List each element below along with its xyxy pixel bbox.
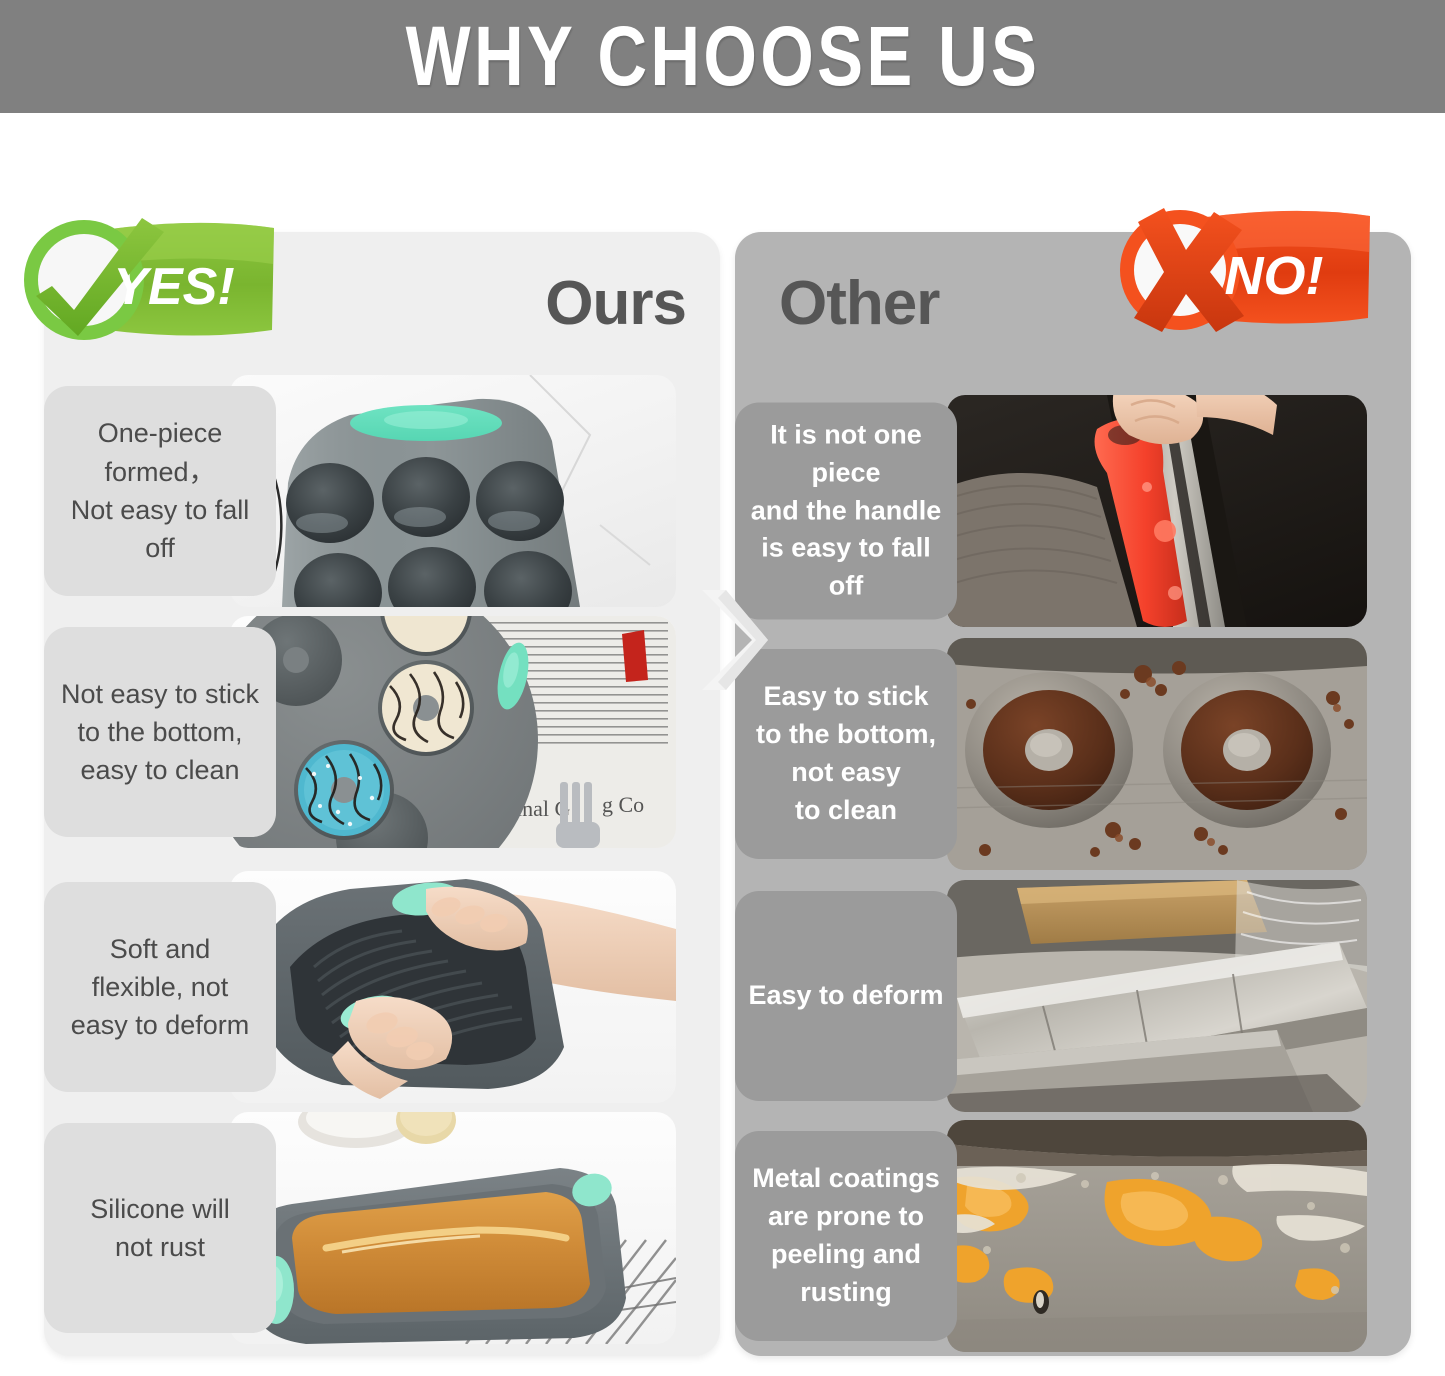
list-item: inal G g Co [44, 616, 676, 848]
arrow-right-icon [700, 588, 770, 692]
page-header: WHY CHOOSE US [0, 0, 1445, 113]
page-title: WHY CHOOSE US [405, 8, 1040, 105]
ours-caption-4: Silicone will not rust [44, 1123, 276, 1333]
other-caption-3: Easy to deform [735, 891, 957, 1101]
list-item: Silicone will not rust [44, 1112, 676, 1344]
svg-text:g Co: g Co [602, 792, 644, 817]
list-item: Metal coatings are prone to peeling and … [735, 1120, 1367, 1352]
yes-label: YES! [113, 258, 234, 316]
photo-deformed-pans [947, 880, 1367, 1112]
infographic-page: WHY CHOOSE US Ours Other [0, 0, 1445, 1376]
photo-flexible-loaf-pan [230, 871, 676, 1103]
ours-heading: Ours [545, 268, 686, 339]
photo-cake-loaf-pan [230, 1112, 676, 1344]
photo-rusting-pan [947, 1120, 1367, 1352]
list-item: Easy to deform [735, 880, 1367, 1112]
no-label: NO! [1225, 246, 1324, 306]
list-item: One-piece formed， Not easy to fall off [44, 375, 676, 607]
other-heading: Other [779, 268, 939, 339]
no-badge: NO! [1118, 202, 1418, 338]
photo-handle-falls-off [947, 395, 1367, 627]
photo-stuck-donut-pan [947, 638, 1367, 870]
other-caption-4: Metal coatings are prone to peeling and … [735, 1131, 957, 1341]
yes-badge: YES! [22, 212, 322, 348]
ours-caption-2: Not easy to stick to the bottom, easy to… [44, 627, 276, 837]
ours-caption-3: Soft and flexible, not easy to deform [44, 882, 276, 1092]
list-item: Soft and flexible, not easy to deform [44, 871, 676, 1103]
list-item: It is not one piece and the handle is ea… [735, 395, 1367, 627]
ours-caption-1: One-piece formed， Not easy to fall off [44, 386, 276, 596]
photo-donut-pan: inal G g Co [230, 616, 676, 848]
list-item: Easy to stick to the bottom, not easy to… [735, 638, 1367, 870]
other-caption-1: It is not one piece and the handle is ea… [735, 403, 957, 620]
photo-muffin-pan [230, 375, 676, 607]
